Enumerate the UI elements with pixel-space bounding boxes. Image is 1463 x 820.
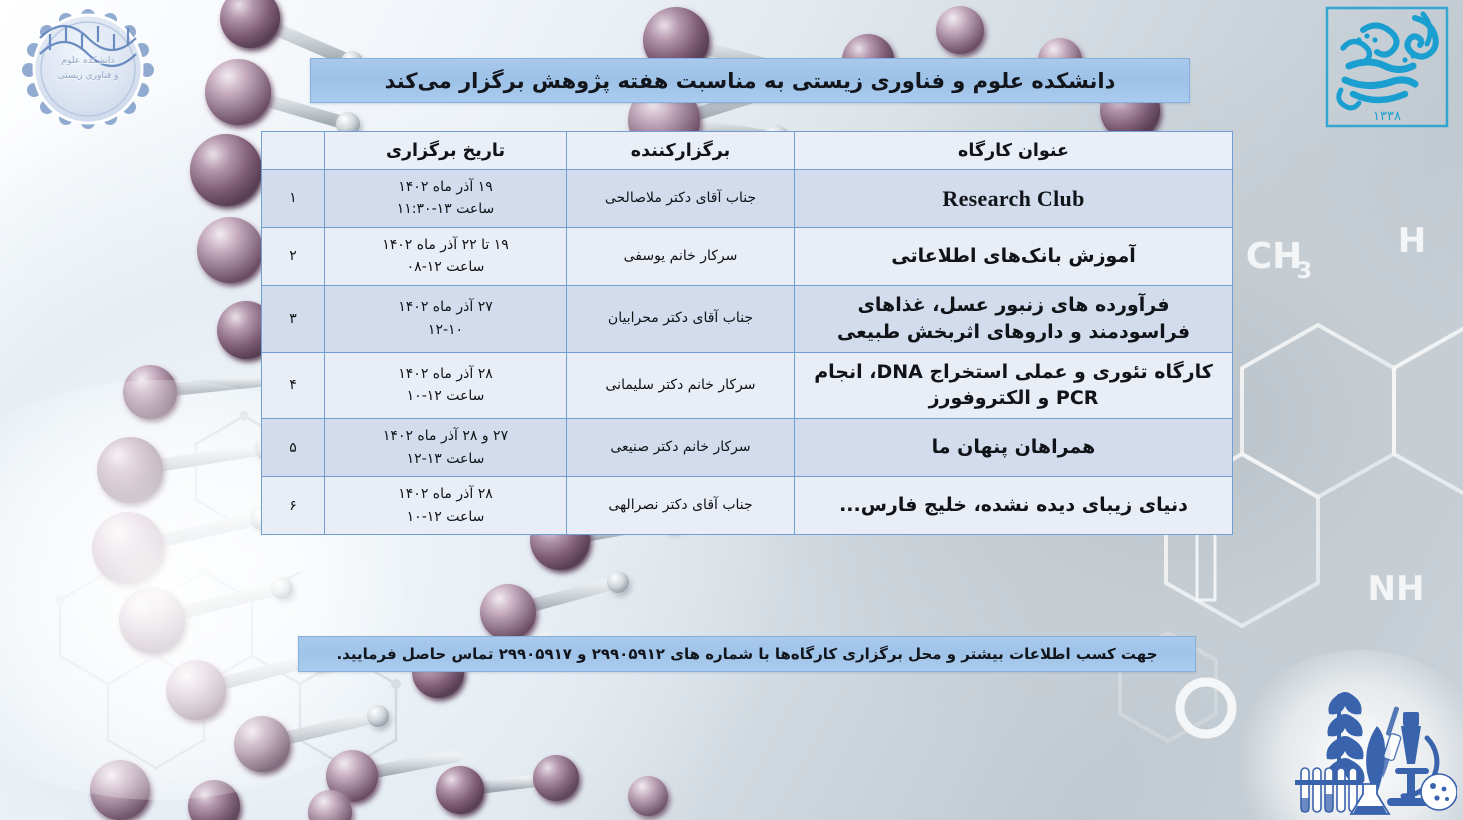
- cell-host: سرکار خانم دکتر صنیعی: [567, 419, 795, 477]
- cell-date-line2: ساعت ۱۲-۰۸: [333, 256, 558, 278]
- chem-label-ch3: CH: [1246, 236, 1303, 277]
- faculty-seal-line2: و فناوری زیستی: [14, 69, 162, 84]
- table-row: کارگاه تئوری و عملی استخراج DNA، انجام P…: [262, 352, 1233, 419]
- university-logo: ۱۳۳۸: [1319, 2, 1455, 132]
- table-row: دنیای زیبای دیده نشده، خلیج فارس...جناب …: [262, 477, 1233, 535]
- cell-date-line1: ۱۹ تا ۲۲ آذر ماه ۱۴۰۲: [333, 234, 558, 256]
- faculty-seal: دانشکده علوم و فناوری زیستی: [14, 8, 162, 130]
- contact-note: جهت کسب اطلاعات بیشتر و محل برگزاری کارگ…: [336, 645, 1157, 663]
- column-header-number: [262, 132, 325, 170]
- poster-canvas: CH 3 H NH: [0, 0, 1463, 820]
- workshop-table: عنوان کارگاه برگزارکننده تاریخ برگزاری R…: [261, 131, 1233, 535]
- cell-date: ۲۸ آذر ماه ۱۴۰۲ساعت ۱۲-۱۰: [325, 477, 567, 535]
- cell-date-line2: ساعت ۱۲-۱۰: [333, 506, 558, 528]
- cell-date: ۲۸ آذر ماه ۱۴۰۲ساعت ۱۲-۱۰: [325, 352, 567, 419]
- cell-date: ۲۷ و ۲۸ آذر ماه ۱۴۰۲ساعت ۱۳-۱۲: [325, 419, 567, 477]
- cell-workshop-title: دنیای زیبای دیده نشده، خلیج فارس...: [795, 477, 1233, 535]
- column-header-date: تاریخ برگزاری: [325, 132, 567, 170]
- cell-row-number: ۳: [262, 285, 325, 352]
- cell-date-line2: ساعت ۱۲-۱۰: [333, 385, 558, 407]
- cell-date-line2: ساعت ۱۳-۱۱:۳۰: [333, 198, 558, 220]
- cell-workshop-title: کارگاه تئوری و عملی استخراج DNA، انجام P…: [795, 352, 1233, 419]
- cell-workshop-title: Research Club: [795, 170, 1233, 228]
- cell-date-line1: ۲۸ آذر ماه ۱۴۰۲: [333, 363, 558, 385]
- cell-date: ۲۷ آذر ماه ۱۴۰۲۱۲-۱۰: [325, 285, 567, 352]
- chem-label-nh: NH: [1368, 569, 1425, 609]
- column-header-host: برگزارکننده: [567, 132, 795, 170]
- table-row: فرآورده های زنبور عسل، غذاهای فراسودمند …: [262, 285, 1233, 352]
- cell-host: جناب آقای دکتر محرابیان: [567, 285, 795, 352]
- poster-title-banner: دانشکده علوم و فناوری زیستی به مناسبت هف…: [310, 58, 1190, 103]
- cell-date-line1: ۲۷ آذر ماه ۱۴۰۲: [333, 296, 558, 318]
- biotech-emblem: [1277, 676, 1457, 816]
- chem-label-h: H: [1398, 221, 1426, 261]
- cell-row-number: ۲: [262, 227, 325, 285]
- workshop-table-body: Research Clubجناب آقای دکتر ملاصالحی۱۹ آ…: [262, 170, 1233, 535]
- cell-row-number: ۵: [262, 419, 325, 477]
- cell-row-number: ۴: [262, 352, 325, 419]
- cell-host: سرکار خانم دکتر سلیمانی: [567, 352, 795, 419]
- cell-date-line1: ۲۸ آذر ماه ۱۴۰۲: [333, 483, 558, 505]
- table-header-row: عنوان کارگاه برگزارکننده تاریخ برگزاری: [262, 132, 1233, 170]
- university-logo-year: ۱۳۳۸: [1373, 109, 1401, 124]
- cell-workshop-title: فرآورده های زنبور عسل، غذاهای فراسودمند …: [795, 285, 1233, 352]
- cell-date: ۱۹ تا ۲۲ آذر ماه ۱۴۰۲ساعت ۱۲-۰۸: [325, 227, 567, 285]
- cell-workshop-title: آموزش بانک‌های اطلاعاتی: [795, 227, 1233, 285]
- workshop-table-wrapper: عنوان کارگاه برگزارکننده تاریخ برگزاری R…: [262, 131, 1233, 535]
- cell-date-line2: ساعت ۱۳-۱۲: [333, 448, 558, 470]
- cell-host: جناب آقای دکتر نصرالهی: [567, 477, 795, 535]
- page-title: دانشکده علوم و فناوری زیستی به مناسبت هف…: [385, 69, 1116, 93]
- svg-text:3: 3: [1297, 259, 1312, 284]
- table-row: آموزش بانک‌های اطلاعاتیسرکار خانم یوسفی۱…: [262, 227, 1233, 285]
- table-row: همراهان پنهان ماسرکار خانم دکتر صنیعی۲۷ …: [262, 419, 1233, 477]
- cell-row-number: ۱: [262, 170, 325, 228]
- cell-date-line1: ۲۷ و ۲۸ آذر ماه ۱۴۰۲: [333, 425, 558, 447]
- contact-banner: جهت کسب اطلاعات بیشتر و محل برگزاری کارگ…: [298, 636, 1196, 672]
- workshop-table-head: عنوان کارگاه برگزارکننده تاریخ برگزاری: [262, 132, 1233, 170]
- cell-date-line2: ۱۲-۱۰: [333, 319, 558, 341]
- cell-host: جناب آقای دکتر ملاصالحی: [567, 170, 795, 228]
- faculty-seal-label: دانشکده علوم و فناوری زیستی: [14, 54, 162, 84]
- cell-date: ۱۹ آذر ماه ۱۴۰۲ساعت ۱۳-۱۱:۳۰: [325, 170, 567, 228]
- biotech-emblem-graphic: [1277, 676, 1457, 816]
- column-header-title: عنوان کارگاه: [795, 132, 1233, 170]
- cell-date-line1: ۱۹ آذر ماه ۱۴۰۲: [333, 176, 558, 198]
- cell-host: سرکار خانم یوسفی: [567, 227, 795, 285]
- university-logo-graphic: ۱۳۳۸: [1319, 2, 1455, 132]
- cell-row-number: ۶: [262, 477, 325, 535]
- cell-workshop-title: همراهان پنهان ما: [795, 419, 1233, 477]
- faculty-seal-line1: دانشکده علوم: [14, 54, 162, 69]
- table-row: Research Clubجناب آقای دکتر ملاصالحی۱۹ آ…: [262, 170, 1233, 228]
